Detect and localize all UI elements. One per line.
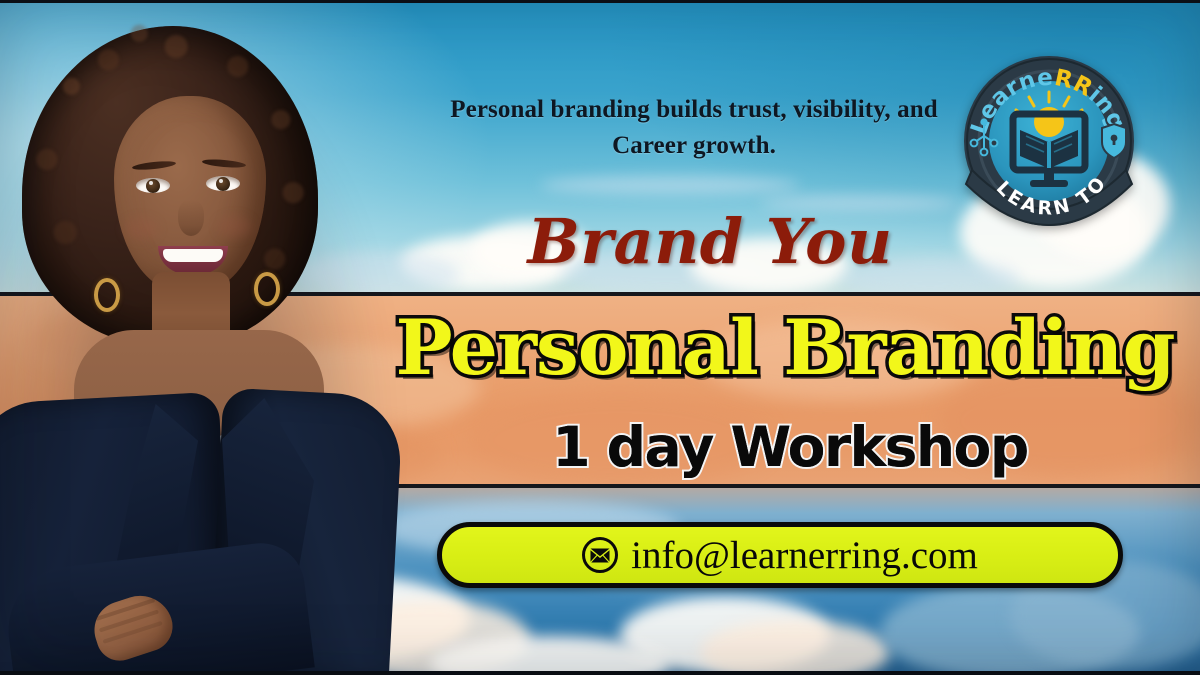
shield-lock-icon	[1102, 124, 1126, 158]
email-contact-bar[interactable]: info@learnerring.com	[437, 522, 1123, 588]
smiling-mouth	[158, 246, 228, 274]
iris	[216, 177, 230, 191]
eyebrow-right	[202, 158, 246, 169]
eye-right	[206, 176, 240, 191]
frame-edge-bottom	[0, 671, 1200, 675]
page-title: Personal Branding	[370, 310, 1200, 386]
cheek-left	[124, 218, 158, 240]
learnerring-logo[interactable]: LearneRRing	[960, 52, 1138, 230]
tagline-line-1: Personal branding builds trust, visibili…	[404, 92, 984, 128]
cheek-right	[218, 216, 252, 238]
subtitle-fill: 1 day Workshop	[380, 415, 1200, 479]
eyebrow-title: Brand You	[430, 205, 990, 278]
tagline: Personal branding builds trust, visibili…	[404, 92, 984, 163]
face	[114, 96, 266, 292]
email-address[interactable]: info@learnerring.com	[631, 533, 978, 578]
iris	[146, 179, 160, 193]
hoop-earring-left	[94, 278, 120, 312]
subtitle: 1 day Workshop 1 day Workshop	[380, 415, 1200, 479]
promotional-poster: Personal branding builds trust, visibili…	[0, 0, 1200, 675]
businesswoman-photo	[0, 0, 416, 675]
teeth	[163, 249, 223, 262]
hoop-earring-right	[254, 272, 280, 306]
tagline-line-2: Career growth.	[404, 128, 984, 164]
frame-edge-top	[0, 0, 1200, 3]
eye-left	[136, 178, 170, 193]
eyebrow-left	[132, 160, 176, 172]
envelope-icon	[582, 537, 618, 573]
nose	[178, 200, 204, 236]
